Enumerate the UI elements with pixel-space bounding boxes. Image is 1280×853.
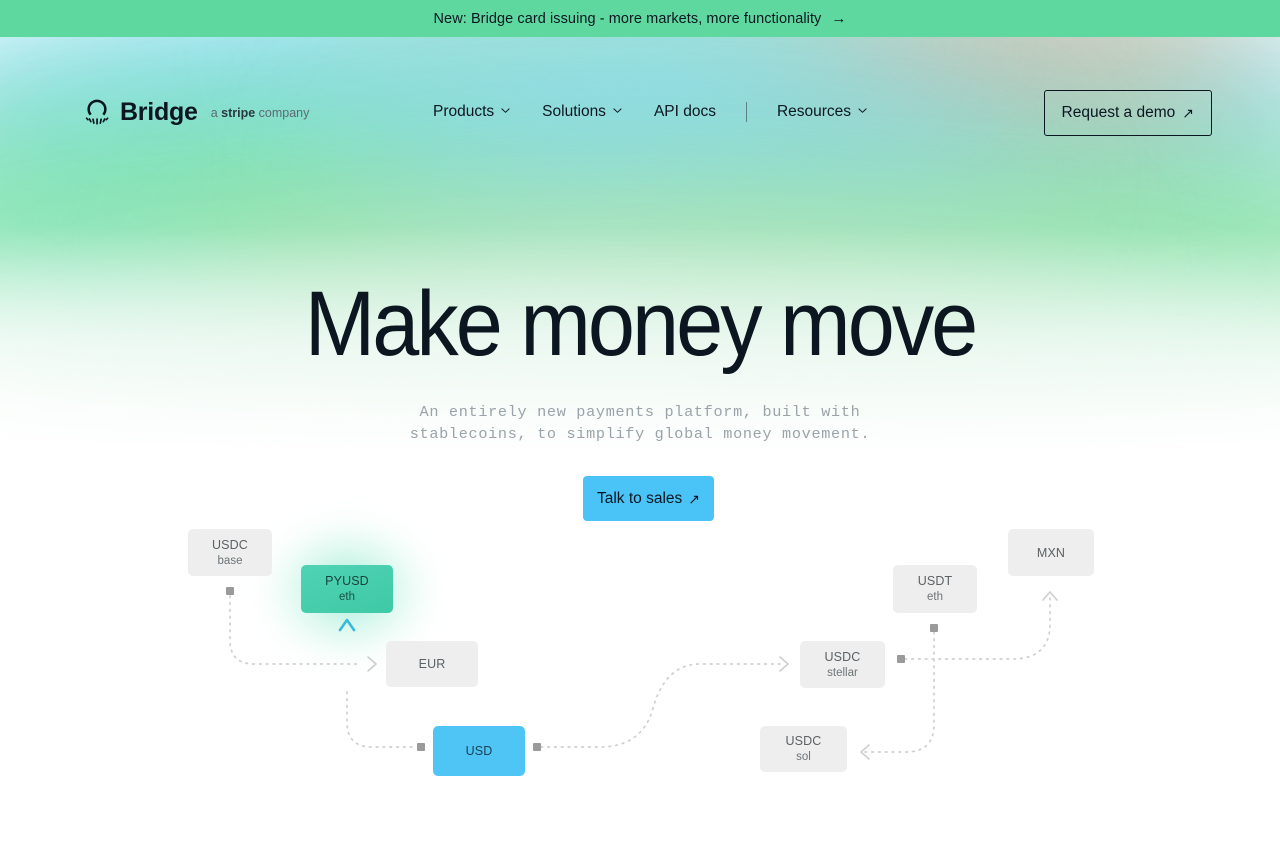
flow-node-subtitle: sol (796, 749, 811, 765)
nav-item-solutions[interactable]: Solutions (542, 99, 622, 125)
nav-item-label: Solutions (542, 103, 606, 121)
flow-node-title: MXN (1037, 545, 1065, 561)
flow-node-title: PYUSD (325, 573, 369, 589)
arrowhead-eur (368, 657, 376, 671)
page-root: New: Bridge card issuing - more markets,… (0, 0, 1280, 853)
chevron-down-icon (501, 106, 510, 115)
flow-node-subtitle: eth (927, 589, 943, 605)
announcement-banner[interactable]: New: Bridge card issuing - more markets,… (0, 0, 1280, 37)
logo-tagline: a stripe company (211, 104, 310, 120)
logo-wordmark: Bridge (120, 100, 198, 125)
logo[interactable]: Bridge a stripe company (83, 97, 309, 127)
chevron-down-icon (858, 106, 867, 115)
flow-node-usdc-base[interactable]: USDC base (188, 529, 272, 576)
nav-item-label: Products (433, 103, 494, 121)
flow-node-usdc-sol[interactable]: USDC sol (760, 726, 847, 772)
main-navigation: Bridge a stripe company Products Solutio… (0, 37, 1280, 117)
request-demo-button[interactable]: Request a demo ↗ (1044, 90, 1212, 136)
connector-node (417, 743, 425, 751)
announcement-link[interactable]: New: Bridge card issuing - more markets,… (434, 11, 847, 27)
flow-node-title: USDC (212, 537, 248, 553)
flow-node-pyusd-eth[interactable]: PYUSD eth (301, 565, 393, 613)
nav-item-resources[interactable]: Resources (777, 99, 867, 125)
arrow-up-right-icon: ↗ (688, 492, 700, 506)
flow-node-title: EUR (419, 656, 446, 672)
arrow-up-right-icon: ↗ (1182, 106, 1194, 120)
bridge-logo-icon (83, 97, 111, 127)
flow-node-usdt-eth[interactable]: USDT eth (893, 565, 977, 613)
flow-node-title: USDT (918, 573, 953, 589)
nav-item-label: Resources (777, 103, 851, 121)
arrow-right-icon: → (831, 11, 846, 26)
nav-item-products[interactable]: Products (433, 99, 510, 125)
nav-item-api-docs[interactable]: API docs (654, 99, 716, 125)
connector-node (226, 587, 234, 595)
announcement-text: New: Bridge card issuing - more markets,… (434, 11, 822, 27)
nav-divider (746, 102, 747, 122)
arrowhead-stellar (780, 657, 788, 671)
flow-node-usdc-stellar[interactable]: USDC stellar (800, 641, 885, 688)
talk-to-sales-label: Talk to sales (597, 490, 682, 508)
flow-node-subtitle: base (218, 553, 243, 569)
hero-subtitle: An entirely new payments platform, built… (0, 402, 1280, 445)
flow-node-usd[interactable]: USD (433, 726, 525, 776)
flow-node-title: USDC (825, 649, 861, 665)
request-demo-label: Request a demo (1062, 104, 1176, 122)
nav-item-label: API docs (654, 103, 716, 121)
nav-links: Products Solutions API docs Resources (433, 99, 867, 125)
flow-node-eur[interactable]: EUR (386, 641, 478, 687)
flow-node-mxn[interactable]: MXN (1008, 529, 1094, 576)
connector-node (897, 655, 905, 663)
connector-node (930, 624, 938, 632)
flow-node-title: USD (466, 743, 493, 759)
flow-node-subtitle: eth (339, 589, 355, 605)
chevron-down-icon (613, 106, 622, 115)
flow-node-title: USDC (786, 733, 822, 749)
talk-to-sales-button[interactable]: Talk to sales ↗ (583, 476, 714, 521)
page-title: Make money move (51, 278, 1229, 370)
connector-node (533, 743, 541, 751)
flow-node-subtitle: stellar (827, 665, 858, 681)
